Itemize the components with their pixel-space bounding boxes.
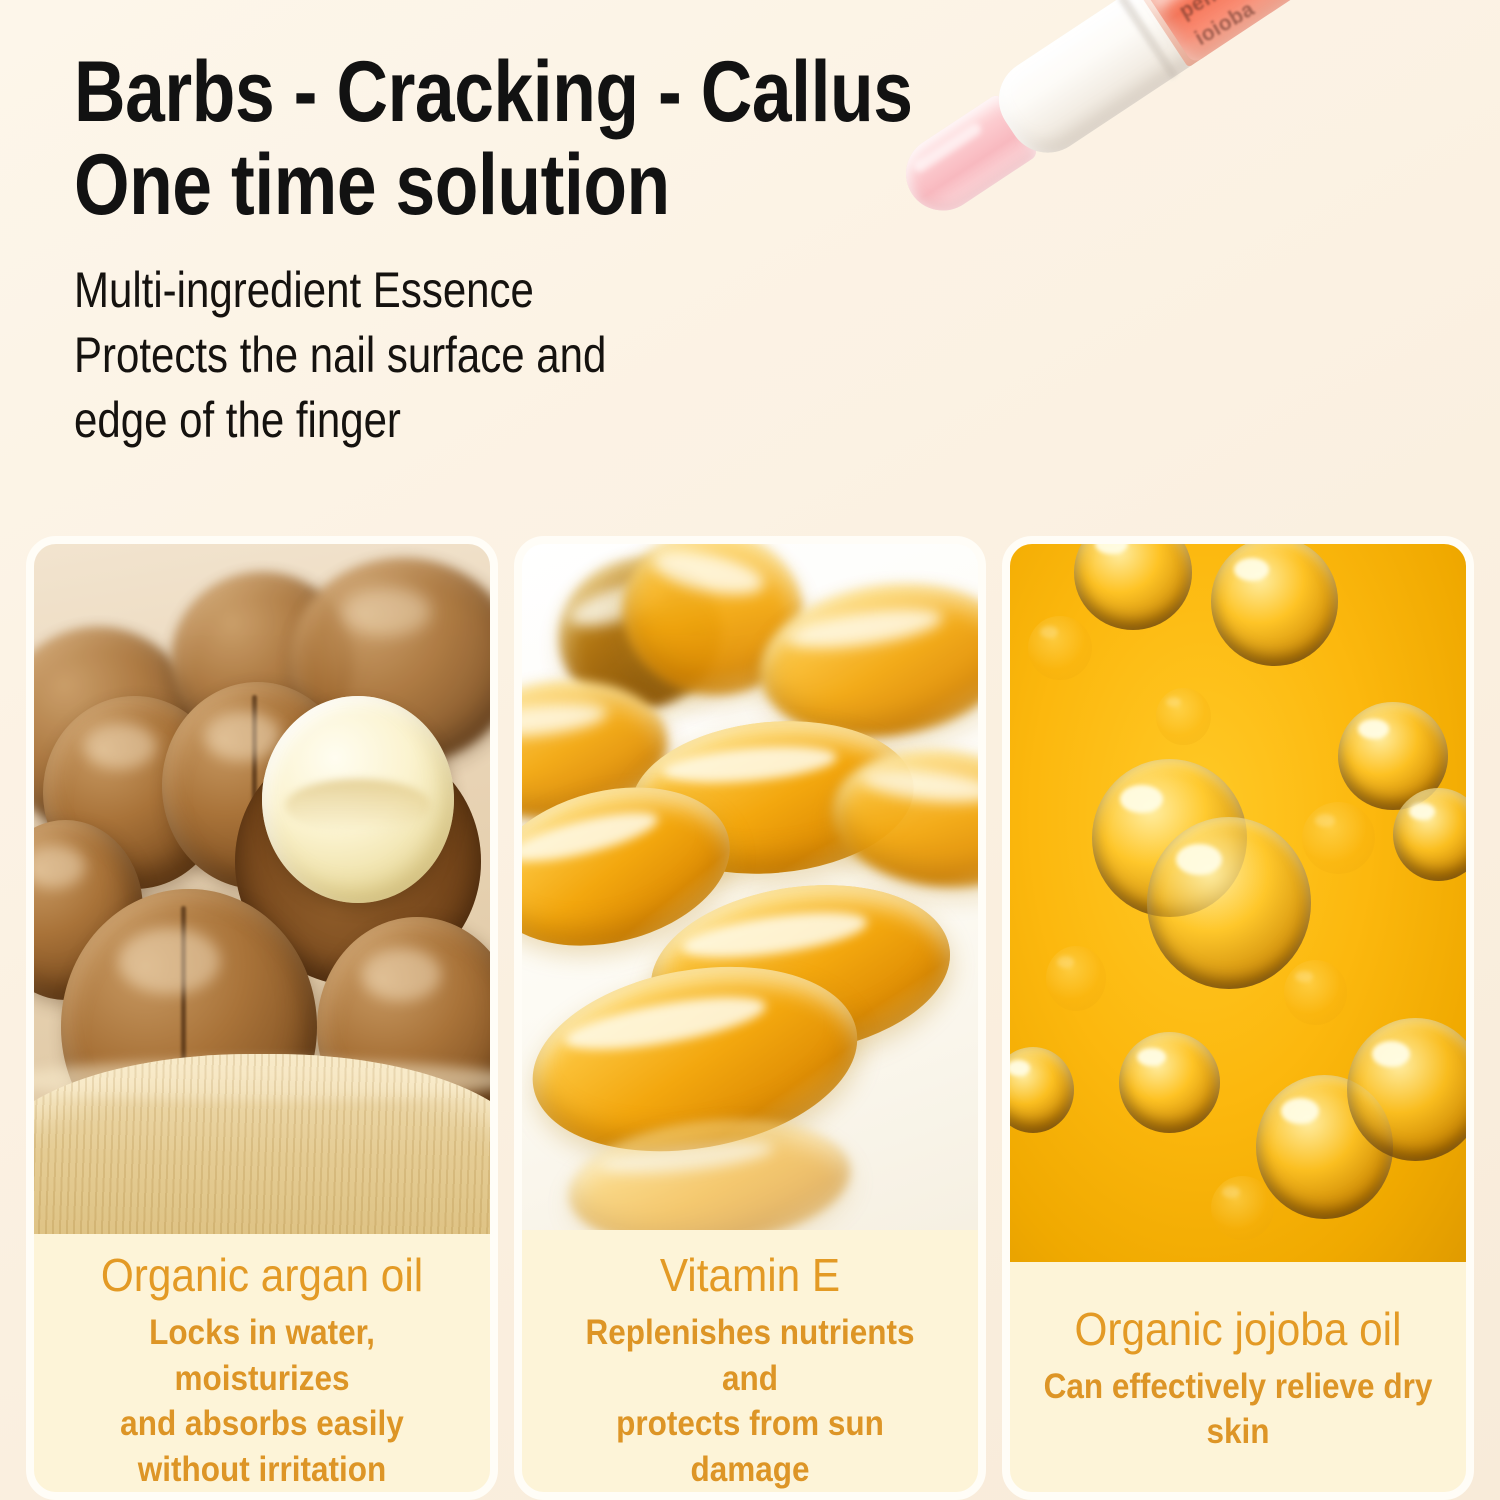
headline: Barbs - Cracking - Callus One time solut…	[74, 46, 821, 232]
pen-illustration: and vit pen and jojoba and vit	[984, 0, 1471, 168]
ingredient-card[interactable]: Organic jojoba oil Can effectively relie…	[1002, 536, 1474, 1500]
softgel-scene	[522, 544, 978, 1230]
card-title: Vitamin E	[549, 1250, 950, 1302]
card-body: Replenishes nutrients and protects from …	[554, 1310, 946, 1492]
headline-block: Barbs - Cracking - Callus One time solut…	[74, 46, 974, 453]
card-title: Organic argan oil	[61, 1250, 462, 1302]
ingredient-card[interactable]: Organic argan oil Locks in water, moistu…	[26, 536, 498, 1500]
card-body: Can effectively relieve dry skin	[1042, 1364, 1434, 1455]
subcopy-line-2: Protects the nail surface and	[74, 323, 830, 388]
card-caption: Vitamin E Replenishes nutrients and prot…	[522, 1230, 978, 1492]
card-title: Organic jojoba oil	[1037, 1304, 1438, 1356]
macadamia-nuts-photo	[34, 544, 490, 1234]
oil-bubbles-scene	[1010, 544, 1466, 1262]
wooden-bowl	[34, 1054, 490, 1234]
nuts-scene	[34, 544, 490, 1234]
subcopy-line-1: Multi-ingredient Essence	[74, 258, 830, 323]
card-body: Locks in water, moisturizes and absorbs …	[66, 1310, 458, 1492]
vitamin-e-softgels-photo	[522, 544, 978, 1230]
card-caption: Organic argan oil Locks in water, moistu…	[34, 1234, 490, 1492]
ingredient-cards: Organic argan oil Locks in water, moistu…	[26, 536, 1474, 1500]
product-feature-poster: Barbs - Cracking - Callus One time solut…	[0, 0, 1500, 1500]
subcopy-line-3: edge of the finger	[74, 388, 830, 453]
ingredient-card[interactable]: Vitamin E Replenishes nutrients and prot…	[514, 536, 986, 1500]
card-caption: Organic jojoba oil Can effectively relie…	[1010, 1262, 1466, 1492]
subcopy: Multi-ingredient Essence Protects the na…	[74, 258, 830, 453]
headline-line-2: One time solution	[74, 139, 821, 232]
headline-line-1: Barbs - Cracking - Callus	[74, 46, 821, 139]
jojoba-oil-bubbles-photo	[1010, 544, 1466, 1262]
